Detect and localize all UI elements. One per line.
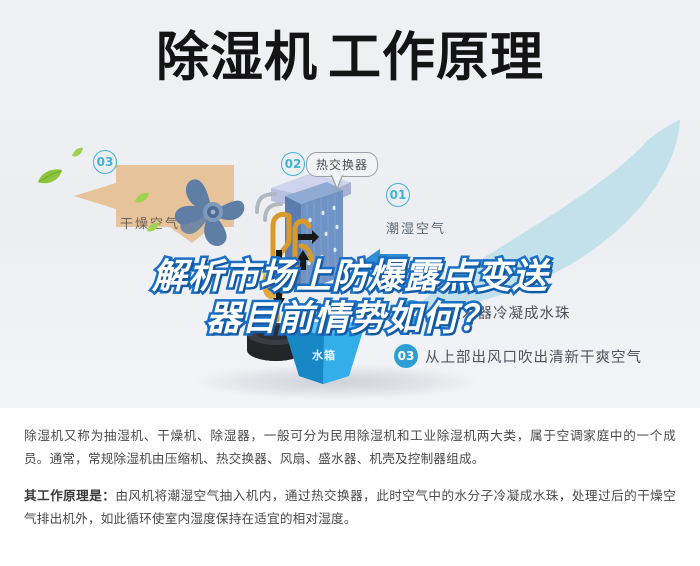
leaf-icon [71, 147, 84, 158]
page-root: 除湿机工作原理 干燥空气 03 [0, 0, 700, 566]
step-line-03: 03 从上部出风口吹出清新干爽空气 [394, 344, 642, 368]
leaf-icon [134, 192, 150, 204]
humid-air-label: 潮湿空气 [386, 218, 446, 237]
water-tank-label: 水箱 [312, 347, 336, 363]
article-paragraph-2-rest: 由风机将潮湿空气抽入机内，通过热交换器，此时空气中的水分子冷凝成水珠，处理过后的… [24, 488, 676, 526]
title-part1: 除湿机 [156, 27, 318, 88]
badge-step03: 03 [394, 344, 418, 368]
overlay-headline-line1: 解析市场上防爆露点变送 [0, 256, 700, 298]
leaf-icon [146, 222, 160, 233]
title-part2: 工作原理 [328, 27, 544, 88]
overlay-headline: 解析市场上防爆露点变送 器目前情势如何？ [0, 256, 700, 340]
badge-step03-dry-air: 03 [93, 150, 117, 174]
callout-tail-icon [330, 174, 344, 190]
fan-icon [168, 178, 250, 250]
article-paragraph-2-lead: 其工作原理是： [24, 488, 115, 503]
leaf-icon [36, 168, 64, 186]
article-paragraph-1: 除湿机又称为抽湿机、干燥机、除湿器，一般可分为民用除湿机和工业除湿机两大类，属于… [24, 424, 676, 470]
article-body: 除湿机又称为抽湿机、干燥机、除湿器，一般可分为民用除湿机和工业除湿机两大类，属于… [0, 408, 700, 566]
infographic-title: 除湿机工作原理 [0, 28, 700, 88]
article-paragraph-2: 其工作原理是：由风机将潮湿空气抽入机内，通过热交换器，此时空气中的水分子冷凝成水… [24, 484, 676, 530]
badge-step01-humid-air: 01 [386, 183, 410, 207]
step-03-text: 从上部出风口吹出清新干爽空气 [425, 346, 642, 367]
overlay-headline-line2: 器目前情势如何？ [0, 298, 700, 340]
infographic-panel: 除湿机工作原理 干燥空气 03 [0, 0, 700, 408]
badge-step02-heat-exchanger: 02 [281, 152, 305, 176]
